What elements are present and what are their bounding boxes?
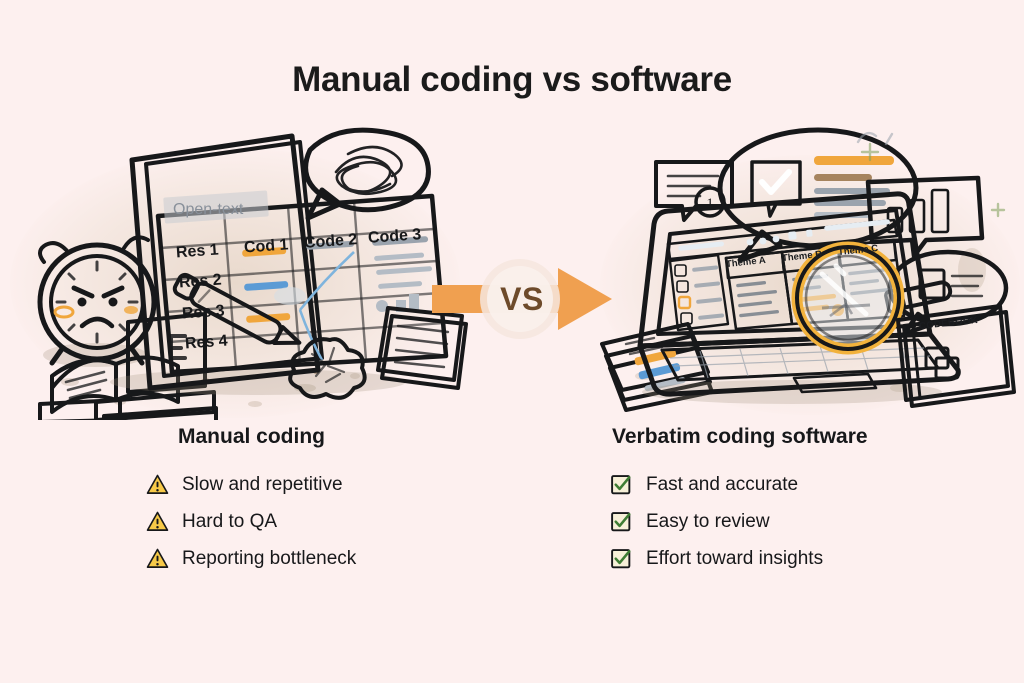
list-item-label: Hard to QA xyxy=(182,511,277,533)
page-title: Manual coding vs software xyxy=(0,60,1024,100)
table-header-3: Code 3 xyxy=(367,226,421,248)
list-item: Reporting bottleneck xyxy=(146,540,356,577)
checkbox-checked-icon xyxy=(610,473,633,496)
list-item: Hard to QA xyxy=(146,503,356,540)
list-item-label: Fast and accurate xyxy=(646,474,798,496)
table-header-2: Code 2 xyxy=(303,231,357,253)
table-header-0: Res 1 xyxy=(175,242,219,263)
list-item: Slow and repetitive xyxy=(146,466,356,503)
table-row-1: Res 3 xyxy=(181,303,225,324)
right-scene-illustration: 1 xyxy=(600,120,1024,420)
list-item: Easy to review xyxy=(610,503,823,540)
list-item-label: Reporting bottleneck xyxy=(182,548,356,570)
left-column-heading: Manual coding xyxy=(178,425,325,449)
list-item-label: Slow and repetitive xyxy=(182,474,343,496)
warning-triangle-icon xyxy=(146,547,169,570)
left-scene-illustration xyxy=(0,120,480,420)
list-item-label: Easy to review xyxy=(646,511,770,533)
checkbox-checked-icon xyxy=(610,547,633,570)
list-item: Fast and accurate xyxy=(610,466,823,503)
books-stack-icon xyxy=(40,314,216,420)
sidebar-swatches xyxy=(675,265,692,324)
table-row-2: Res 4 xyxy=(184,333,228,354)
infographic-canvas: Manual coding vs software xyxy=(0,0,1024,683)
list-item-label: Effort toward insights xyxy=(646,548,823,570)
checkbox-checked-icon xyxy=(610,510,633,533)
left-bullet-list: Slow and repetitive Hard to QA Reporting… xyxy=(146,466,356,577)
list-item: Effort toward insights xyxy=(610,540,823,577)
table-row-0: Res 2 xyxy=(178,272,222,293)
table-header-1: Cod 1 xyxy=(243,236,289,257)
warning-triangle-icon xyxy=(146,473,169,496)
right-bullet-list: Fast and accurate Easy to review Effort … xyxy=(610,466,823,577)
right-column-heading: Verbatim coding software xyxy=(612,425,868,449)
warning-triangle-icon xyxy=(146,510,169,533)
vs-badge: VS xyxy=(432,258,612,340)
alarm-clock-sad-icon xyxy=(40,237,154,367)
vs-label: VS xyxy=(432,258,612,340)
